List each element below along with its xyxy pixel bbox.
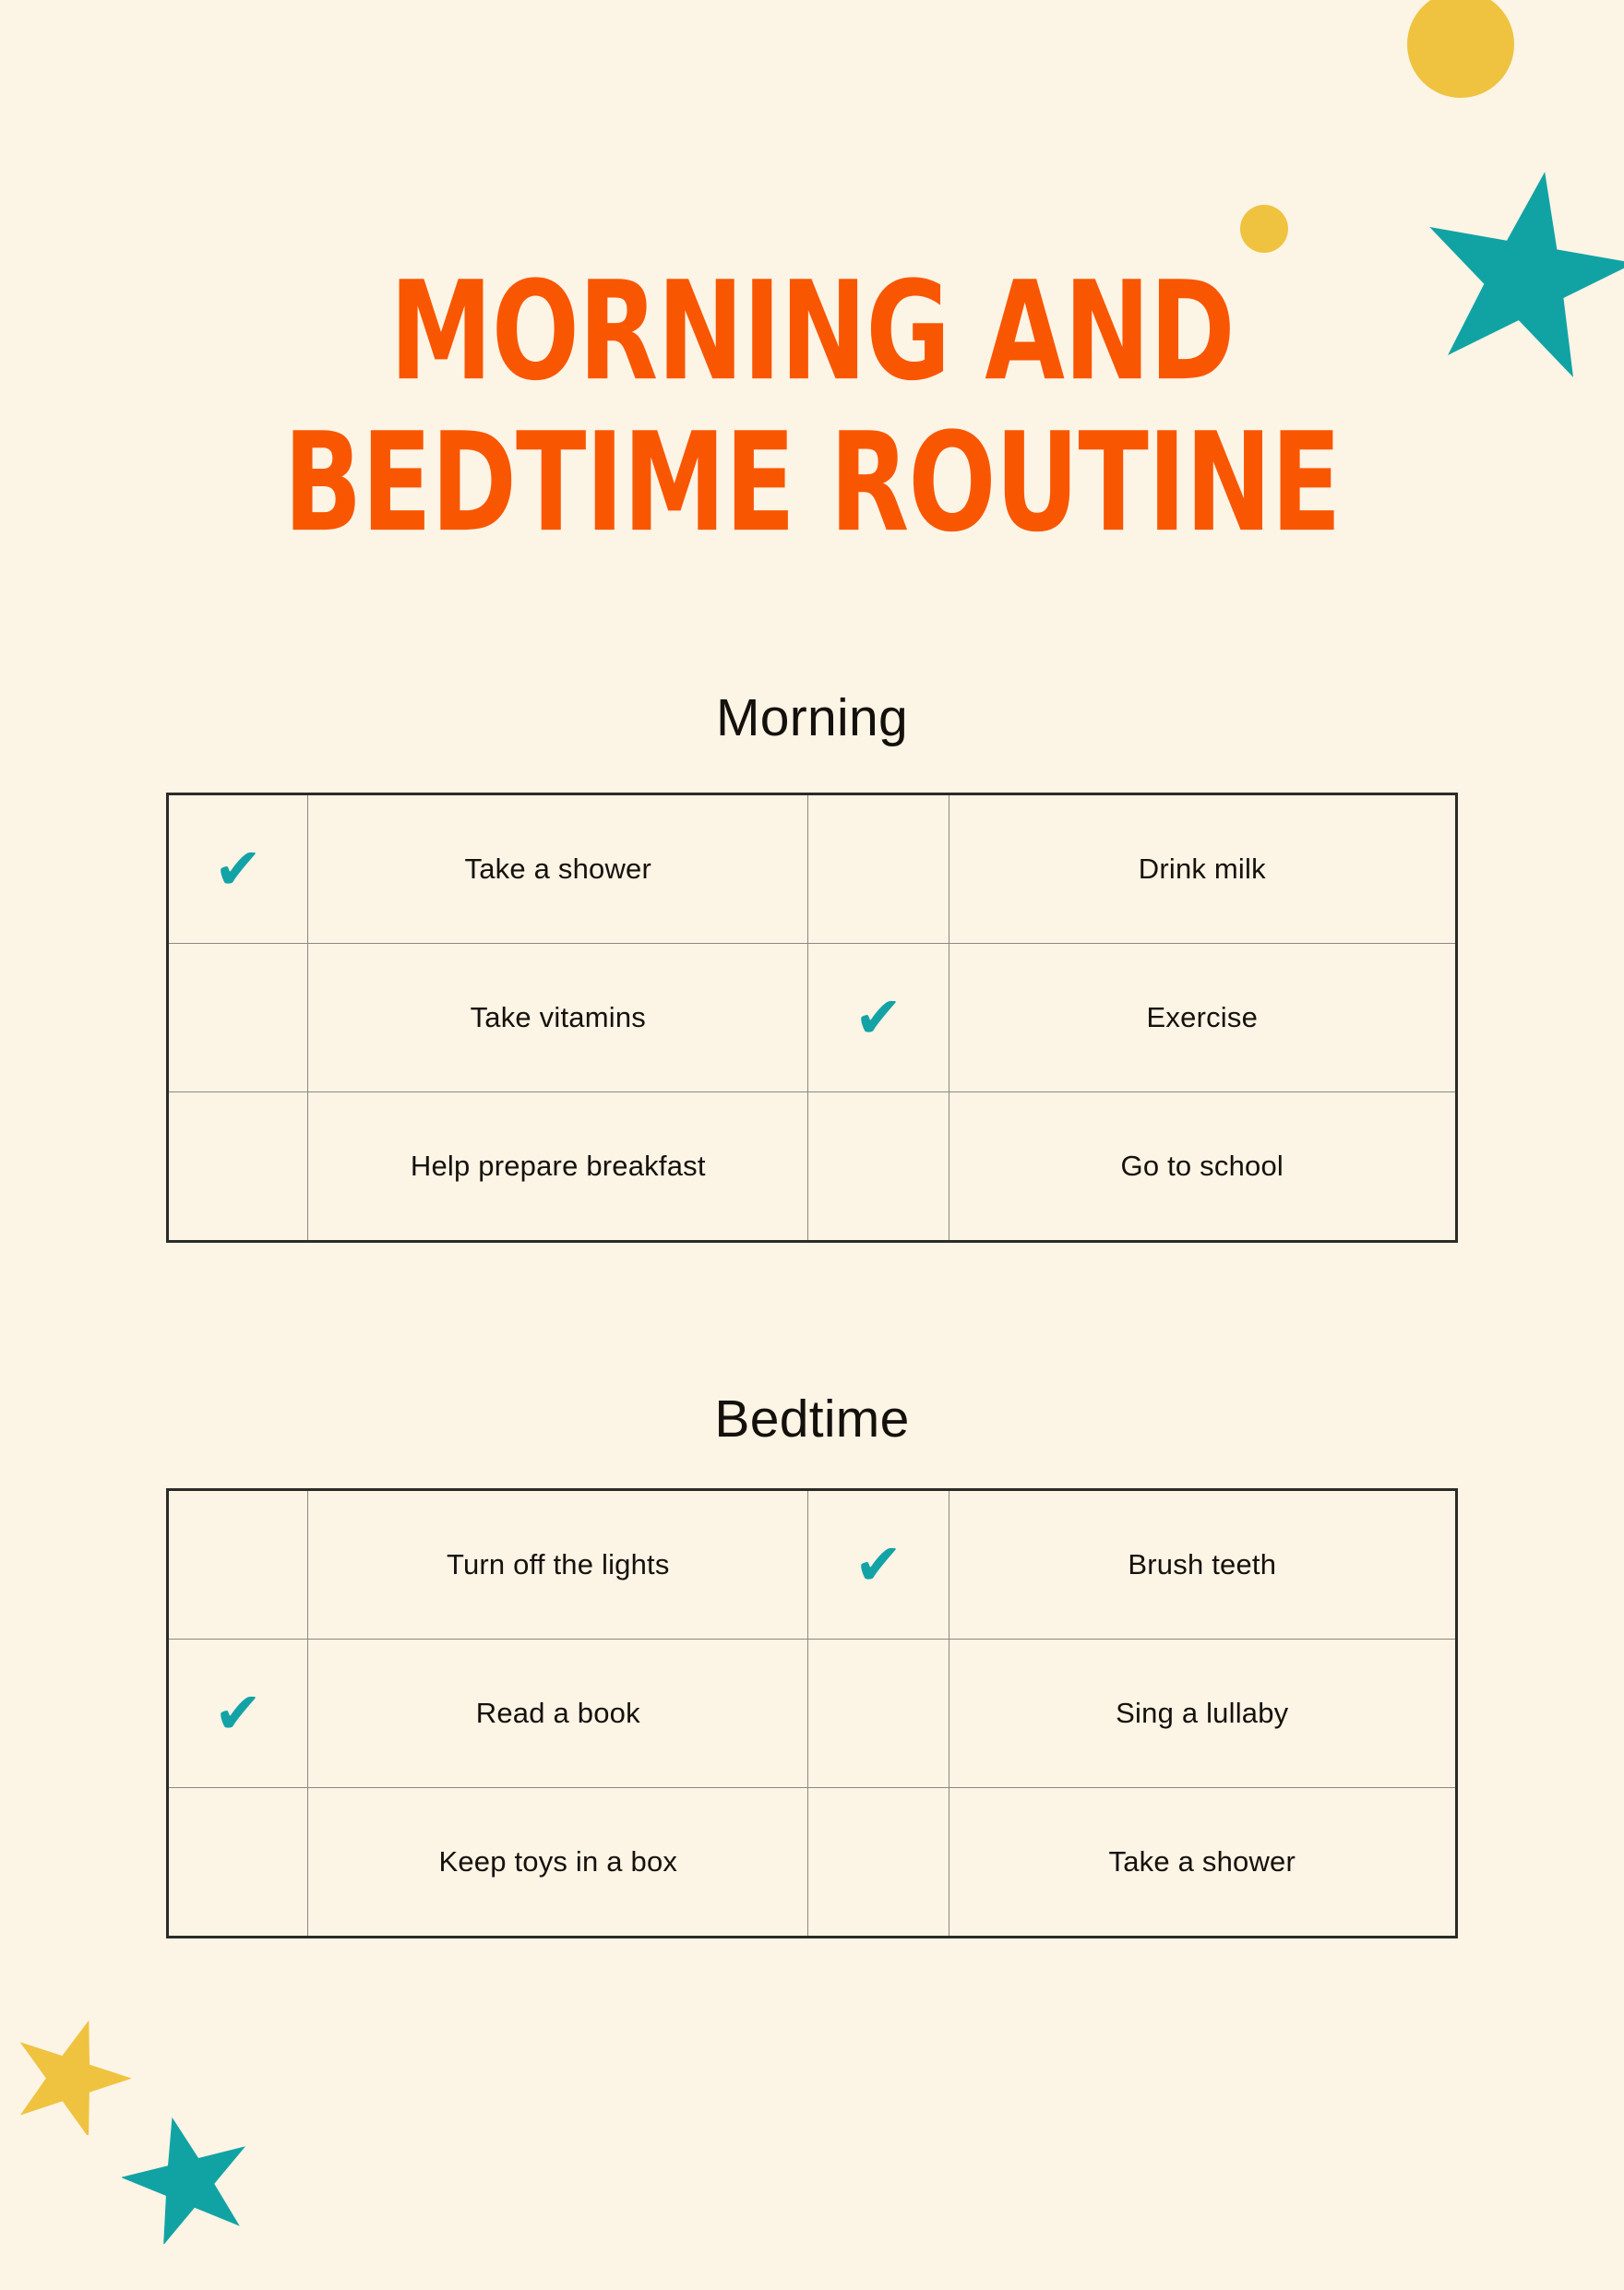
task-cell[interactable]: Sing a lullaby — [949, 1640, 1456, 1788]
page-title-line-1: Morning and — [0, 264, 1624, 400]
checkbox-cell[interactable]: ✔ — [808, 794, 949, 944]
checkbox-cell[interactable]: ✔ — [808, 1490, 949, 1640]
checkbox-cell[interactable]: ✔ — [168, 1640, 308, 1788]
check-icon: ✔ — [214, 1685, 262, 1742]
check-icon: ✔ — [214, 841, 262, 898]
task-cell[interactable]: Keep toys in a box — [308, 1788, 808, 1938]
task-cell[interactable]: Exercise — [949, 944, 1456, 1092]
table-row: ✔ Take vitamins ✔ Exercise — [168, 944, 1457, 1092]
check-icon: ✔ — [854, 989, 902, 1046]
task-cell[interactable]: Take vitamins — [308, 944, 808, 1092]
task-cell[interactable]: Take a shower — [949, 1788, 1456, 1938]
yellow-dot-decoration — [1240, 205, 1288, 253]
section-heading-bedtime: Bedtime — [0, 1389, 1624, 1449]
checkbox-cell[interactable]: ✔ — [808, 1640, 949, 1788]
checkbox-cell[interactable]: ✔ — [808, 1788, 949, 1938]
section-bedtime: Bedtime ✔ Turn off the lights ✔ Brush te… — [0, 1389, 1624, 1938]
task-cell[interactable]: Brush teeth — [949, 1490, 1456, 1640]
table-row: ✔ Take a shower ✔ Drink milk — [168, 794, 1457, 944]
task-cell[interactable]: Turn off the lights — [308, 1490, 808, 1640]
section-heading-morning: Morning — [0, 687, 1624, 748]
section-morning: Morning ✔ Take a shower ✔ Drink milk ✔ T… — [0, 687, 1624, 1243]
task-cell[interactable]: Drink milk — [949, 794, 1456, 944]
checkbox-cell[interactable]: ✔ — [808, 944, 949, 1092]
page-title: Morning and Bedtime Routine — [0, 264, 1624, 519]
table-row: ✔ Turn off the lights ✔ Brush teeth — [168, 1490, 1457, 1640]
checkbox-cell[interactable]: ✔ — [808, 1092, 949, 1242]
checkbox-cell[interactable]: ✔ — [168, 794, 308, 944]
checkbox-cell[interactable]: ✔ — [168, 1490, 308, 1640]
checkbox-cell[interactable]: ✔ — [168, 1092, 308, 1242]
poster-canvas: Morning and Bedtime Routine Morning ✔ Ta… — [0, 0, 1624, 2290]
task-cell[interactable]: Take a shower — [308, 794, 808, 944]
routine-table-bedtime: ✔ Turn off the lights ✔ Brush teeth ✔ Re… — [166, 1488, 1458, 1938]
check-icon: ✔ — [854, 1536, 902, 1593]
task-cell[interactable]: Go to school — [949, 1092, 1456, 1242]
task-cell[interactable]: Help prepare breakfast — [308, 1092, 808, 1242]
table-row: ✔ Read a book ✔ Sing a lullaby — [168, 1640, 1457, 1788]
checkbox-cell[interactable]: ✔ — [168, 1788, 308, 1938]
teal-star-bottom-left-decoration — [122, 2113, 253, 2244]
page-title-line-2: Bedtime Routine — [0, 415, 1624, 552]
checkbox-cell[interactable]: ✔ — [168, 944, 308, 1092]
yellow-circle-decoration — [1407, 0, 1514, 98]
routine-table-morning: ✔ Take a shower ✔ Drink milk ✔ Take vita… — [166, 793, 1458, 1243]
task-cell[interactable]: Read a book — [308, 1640, 808, 1788]
table-row: ✔ Help prepare breakfast ✔ Go to school — [168, 1092, 1457, 1242]
table-row: ✔ Keep toys in a box ✔ Take a shower — [168, 1788, 1457, 1938]
yellow-star-bottom-left-decoration — [11, 2015, 131, 2135]
